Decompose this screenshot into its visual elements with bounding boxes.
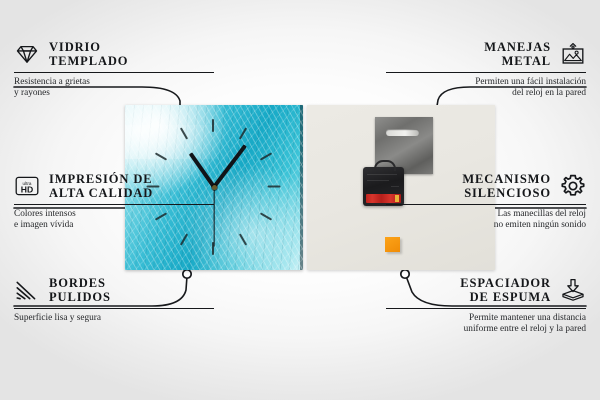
feature-title: ESPACIADOR DE ESPUMA xyxy=(460,276,551,304)
foam-spacer-arrow-icon xyxy=(560,277,586,303)
feature-mecanismo-silencioso: MECANISMO SILENCIOSO Las manecillas del … xyxy=(386,172,586,232)
feature-description: Las manecillas del reloj no emiten ningú… xyxy=(386,209,586,232)
feature-manejas-metal: MANEJAS METAL Permiten una fácil instala… xyxy=(386,40,586,100)
feature-description: Permite mantener una distancia uniforme … xyxy=(386,313,586,336)
feature-divider xyxy=(14,308,214,309)
infographic-canvas: VIDRIO TEMPLADO Resistencia a grietas y … xyxy=(0,0,600,400)
feature-description: Permiten una fácil instalación del reloj… xyxy=(386,77,586,100)
feature-description: Superficie lisa y segura xyxy=(14,313,214,324)
feature-description: Resistencia a grietas y rayones xyxy=(14,77,214,100)
wall-mount-picture-icon xyxy=(560,41,586,67)
ultra-hd-icon: ultra HD xyxy=(14,173,40,199)
feature-bordes-pulidos: BORDES PULIDOS Superficie lisa y segura xyxy=(14,276,214,324)
feature-title: VIDRIO TEMPLADO xyxy=(49,40,128,68)
foam-spacer xyxy=(385,237,400,252)
diamond-icon xyxy=(14,41,40,67)
gear-icon xyxy=(560,173,586,199)
movement-hanging-loop xyxy=(374,160,396,171)
feature-espaciador-espuma: ESPACIADOR DE ESPUMA Permite mantener un… xyxy=(386,276,586,336)
feature-title: MANEJAS METAL xyxy=(484,40,551,68)
feature-divider xyxy=(386,204,586,205)
feature-title: IMPRESIÓN DE ALTA CALIDAD xyxy=(49,172,153,200)
feature-divider xyxy=(14,72,214,73)
feature-description: Colores intensos e imagen vívida xyxy=(14,209,214,232)
clock-tick xyxy=(212,119,214,132)
feature-title: MECANISMO SILENCIOSO xyxy=(462,172,551,200)
feature-divider xyxy=(386,308,586,309)
feature-divider xyxy=(386,72,586,73)
svg-text:HD: HD xyxy=(21,184,33,194)
polished-edges-icon xyxy=(14,277,40,303)
feature-vidrio-templado: VIDRIO TEMPLADO Resistencia a grietas y … xyxy=(14,40,214,100)
feature-divider xyxy=(14,204,214,205)
feature-title: BORDES PULIDOS xyxy=(49,276,111,304)
clock-tick xyxy=(268,186,281,188)
feature-impresion-alta-calidad: ultra HD IMPRESIÓN DE ALTA CALIDAD Color… xyxy=(14,172,214,232)
hanger-keyhole-slot xyxy=(386,129,419,136)
